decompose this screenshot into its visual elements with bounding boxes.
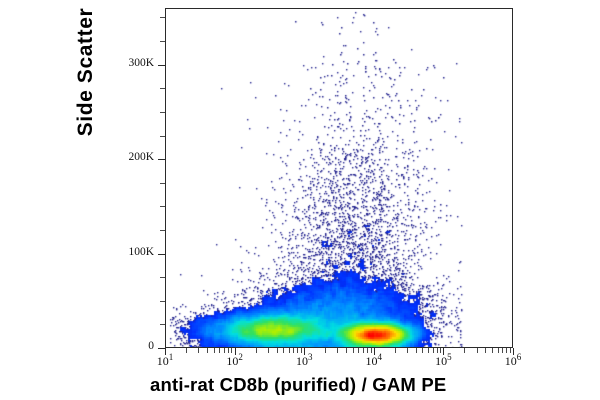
x-axis-minor-tick <box>198 348 199 353</box>
x-axis-minor-tick <box>283 348 284 353</box>
x-axis-minor-tick <box>207 348 208 353</box>
x-axis-minor-tick <box>485 348 486 353</box>
x-axis-tick-label: 102 <box>226 352 243 369</box>
x-axis-minor-tick <box>395 348 396 353</box>
x-axis-minor-tick <box>492 348 493 353</box>
scatter-points-canvas <box>166 9 513 348</box>
x-axis-title: anti-rat CD8b (purified) / GAM PE <box>150 374 600 396</box>
x-axis-minor-tick <box>186 348 187 353</box>
x-axis-minor-tick <box>477 348 478 353</box>
x-axis-tick-label: 103 <box>296 352 313 369</box>
y-axis-tick-label: 100K <box>108 246 154 258</box>
x-axis-tick-label: 105 <box>435 352 452 369</box>
x-axis-minor-tick <box>363 348 364 353</box>
x-axis-minor-tick <box>224 348 225 353</box>
x-axis-minor-tick <box>219 348 220 353</box>
x-axis-minor-tick <box>337 348 338 353</box>
plot-area <box>165 8 513 348</box>
x-axis-minor-tick <box>256 348 257 353</box>
x-axis-minor-tick <box>464 348 465 353</box>
y-axis-title: Side Scatter <box>74 0 102 152</box>
x-axis-minor-tick <box>422 348 423 353</box>
x-axis-minor-tick <box>353 348 354 353</box>
flow-cytometry-scatter-plot: Side Scatter 0100K200K300K 1011021031041… <box>0 0 600 400</box>
x-axis-tick-label: 101 <box>157 352 174 369</box>
x-axis-minor-tick <box>498 348 499 353</box>
x-axis-minor-tick <box>407 348 408 353</box>
x-axis-minor-tick <box>214 348 215 353</box>
y-axis-tick-label: 200K <box>108 151 154 163</box>
x-axis-tick-label: 104 <box>366 352 383 369</box>
y-axis-tick-label: 0 <box>108 340 154 352</box>
x-axis-minor-tick <box>416 348 417 353</box>
x-axis-minor-tick <box>268 348 269 353</box>
x-axis-minor-tick <box>346 348 347 353</box>
x-axis-minor-tick <box>293 348 294 353</box>
x-axis-minor-tick <box>502 348 503 353</box>
scatter-canvas-wrapper <box>166 9 512 347</box>
x-axis-minor-tick <box>325 348 326 353</box>
x-axis-tick-label: 106 <box>505 352 522 369</box>
x-axis-minor-tick <box>289 348 290 353</box>
x-axis-minor-tick <box>277 348 278 353</box>
x-axis-minor-tick <box>428 348 429 353</box>
y-axis-tick-label: 300K <box>108 57 154 69</box>
x-axis-minor-tick <box>433 348 434 353</box>
x-axis-minor-tick <box>358 348 359 353</box>
